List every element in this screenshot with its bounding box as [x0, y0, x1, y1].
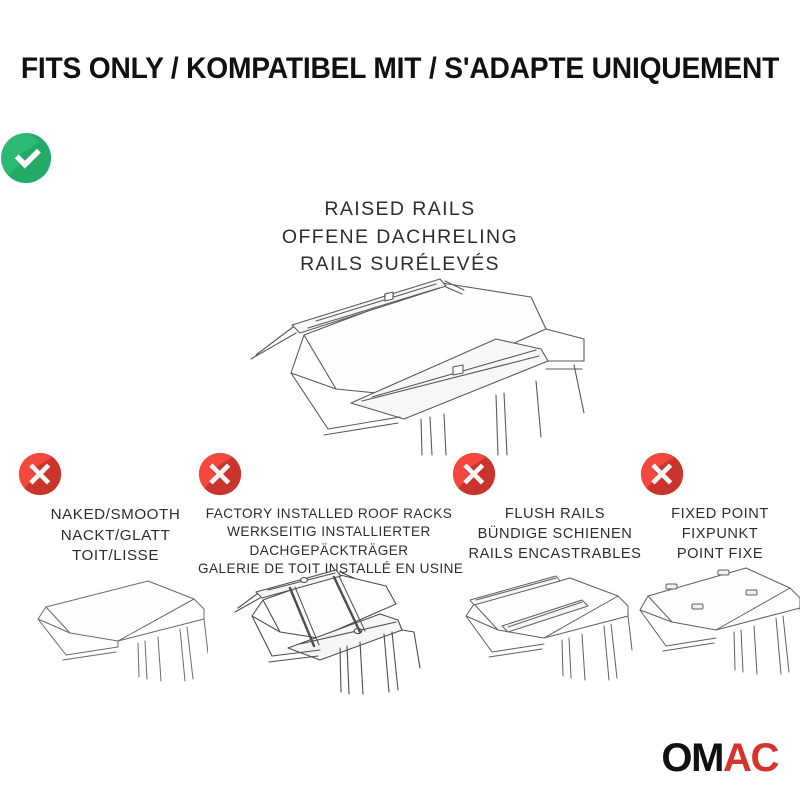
cross-circle-icon [640, 452, 800, 496]
incompatible-item-naked-smooth: NAKED/SMOOTH NACKT/GLATT TOIT/LISSE [18, 452, 213, 567]
cross-circle-icon [452, 452, 658, 496]
label-en: FIXED POINT [640, 505, 800, 525]
cross-circle-icon [198, 452, 460, 496]
car-roof-naked-smooth-illustration [8, 557, 208, 697]
incompatible-item-fixed-point: FIXED POINT FIXPUNKT POINT FIXE [640, 452, 800, 565]
label-de: FIXPUNKT [640, 525, 800, 545]
car-roof-flush-rails-illustration [436, 556, 634, 698]
incompatible-item-flush-rails: FLUSH RAILS BÜNDIGE SCHIENEN RAILS ENCAS… [452, 452, 658, 565]
compatible-section: RAISED RAILS OFFENE DACHRELING RAILS SUR… [0, 132, 800, 279]
label-de-line1: WERKSEITIG INSTALLIERTER [198, 523, 460, 541]
car-roof-fixed-point-illustration [614, 552, 800, 694]
car-roof-raised-rails-illustration [196, 277, 608, 457]
compatible-label-de: OFFENE DACHRELING [0, 224, 800, 252]
page-title: FITS ONLY / KOMPATIBEL MIT / S'ADAPTE UN… [18, 52, 782, 86]
label-en: FACTORY INSTALLED ROOF RACKS [198, 505, 460, 523]
compatible-label-en: RAISED RAILS [0, 196, 800, 224]
logo-text-accent: AC [723, 736, 778, 780]
label-de: NACKT/GLATT [18, 526, 213, 547]
compatible-labels: RAISED RAILS OFFENE DACHRELING RAILS SUR… [0, 196, 800, 279]
cross-circle-icon [18, 452, 213, 496]
fitment-compatibility-infographic: FITS ONLY / KOMPATIBEL MIT / S'ADAPTE UN… [0, 0, 800, 800]
check-circle-icon [0, 132, 800, 184]
label-en: FLUSH RAILS [452, 505, 658, 525]
label-en: NAKED/SMOOTH [18, 505, 213, 526]
car-roof-factory-rack-illustration [208, 552, 426, 702]
omac-logo: OMAC [661, 738, 778, 778]
label-de: BÜNDIGE SCHIENEN [452, 525, 658, 545]
compatible-label-fr: RAILS SURÉLEVÉS [0, 251, 800, 279]
logo-text-dark: OM [661, 736, 723, 780]
